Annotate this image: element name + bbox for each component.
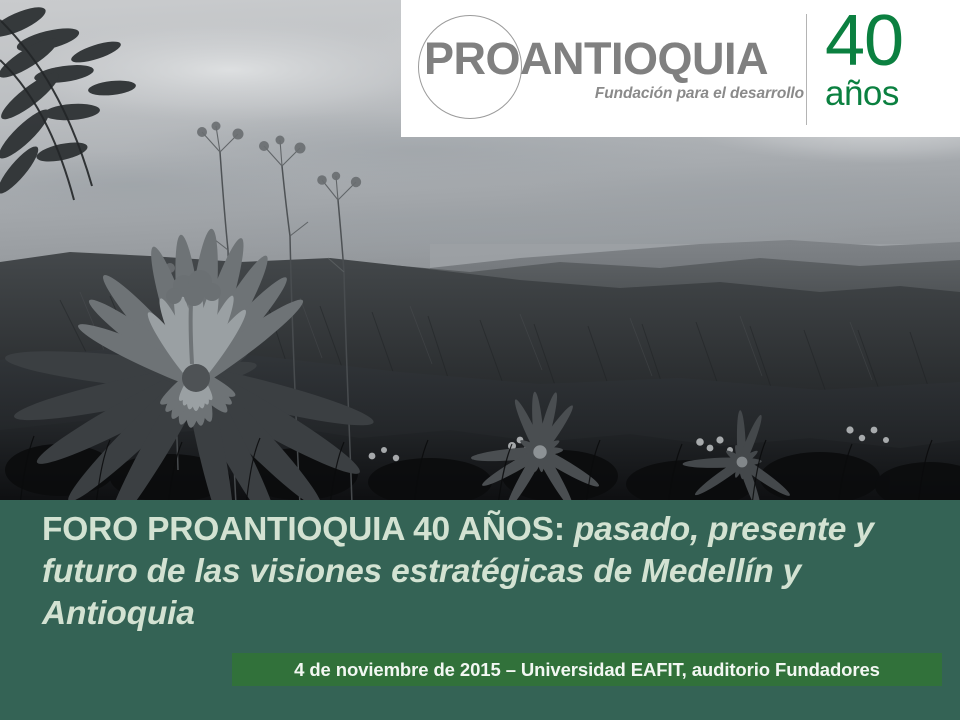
event-title: FORO PROANTIOQUIA 40 AÑOS: pasado, prese… [42,509,932,635]
anniversary-mark: 40 años [825,8,945,111]
event-title-lead: FORO PROANTIOQUIA 40 AÑOS: [42,511,565,548]
anniversary-number: 40 [825,8,945,74]
event-details-box: 4 de noviembre de 2015 – Universidad EAF… [232,653,942,686]
logo-panel: PROANTIOQUIA Fundación para el desarroll… [401,0,960,137]
anniversary-word: años [825,76,945,111]
event-date-venue: 4 de noviembre de 2015 – Universidad EAF… [294,659,880,681]
title-band: FORO PROANTIOQUIA 40 AÑOS: pasado, prese… [0,500,960,720]
brand-tagline: Fundación para el desarrollo [424,85,804,103]
title-slide: PROANTIOQUIA Fundación para el desarroll… [0,0,960,720]
logo-divider [806,14,807,125]
brand-wordmark: PROANTIOQUIA Fundación para el desarroll… [424,36,804,103]
brand-name: PROANTIOQUIA [424,36,804,81]
